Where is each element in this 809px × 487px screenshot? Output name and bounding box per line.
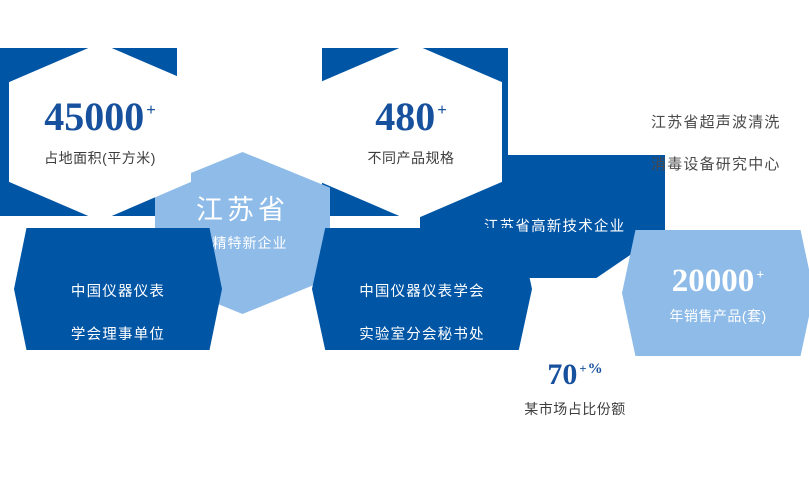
stat-label-annual-sales: 年销售产品(套) — [669, 306, 766, 326]
honor-card-2-text: 中国仪器仪表学会 实验室分会秘书处 — [312, 280, 532, 344]
stat-value-annual-sales: 20000+ — [672, 265, 764, 298]
honor-card-1-text: 中国仪器仪表 学会理事单位 — [14, 280, 222, 344]
honor-2-line-1: 中国仪器仪表学会 — [312, 280, 532, 301]
honor-2-line-2: 实验室分会秘书处 — [312, 323, 532, 344]
stat-card-market-share: 70+% 某市场占比份额 — [480, 360, 670, 419]
research-center-text: 江苏省超声波清洗 消毒设备研究中心 — [651, 111, 781, 174]
honor-1-line-1: 中国仪器仪表 — [14, 280, 222, 301]
infographic-canvas: 江苏省 专精特新企业 45000+ 占地面积(平方米) 480+ 不同产品规格 … — [0, 0, 809, 487]
research-center-line-1: 江苏省超声波清洗 — [651, 111, 781, 132]
research-center-line-2: 消毒设备研究中心 — [651, 153, 781, 174]
stat-card-annual-sales: 20000+ 年销售产品(套) — [622, 265, 809, 326]
stat-label-land-area: 占地面积(平方米) — [44, 148, 156, 168]
stat-label-market-share: 某市场占比份额 — [524, 399, 626, 419]
stat-value-product-specs: 480+ — [375, 97, 447, 137]
stat-value-land-area: 45000+ — [44, 97, 156, 137]
honor-1-line-2: 学会理事单位 — [14, 323, 222, 344]
stat-label-product-specs: 不同产品规格 — [368, 148, 455, 168]
stat-value-market-share: 70+% — [547, 360, 602, 390]
center-badge-title: 江苏省 — [155, 188, 330, 227]
